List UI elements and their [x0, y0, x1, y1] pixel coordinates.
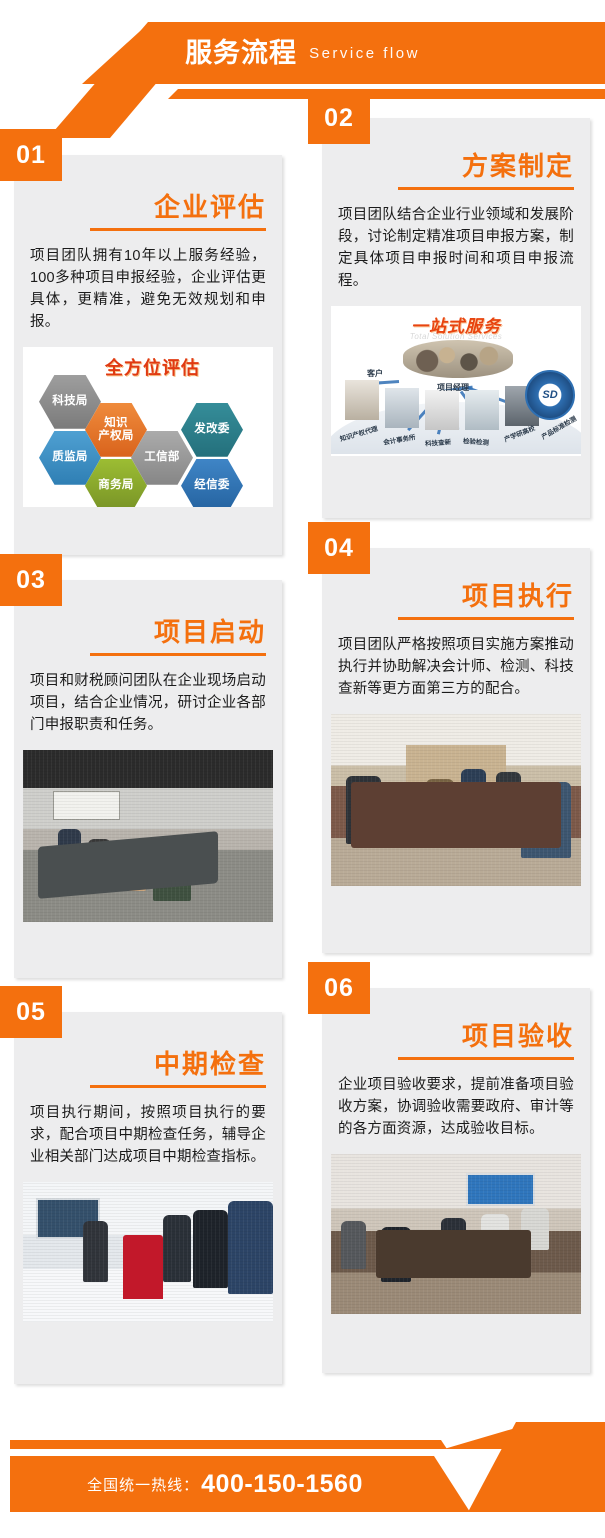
step-body-02: 项目团队结合企业行业领域和发展阶段，讨论制定精准项目申报方案，制定具体项目申报时… [322, 190, 590, 302]
step-body-03: 项目和财税顾问团队在企业现场启动项目，结合企业情况，研讨企业各部门申报职责和任务… [14, 656, 282, 746]
media-one-stop-diagram-02: 一站式服务 Total Solution Services 客户 项目经理 [331, 306, 581, 456]
step-body-05: 项目执行期间，按照项目执行的要求，配合项目中期检查任务，辅导企业相关部门达成项目… [14, 1088, 282, 1178]
page-title: 服务流程 [185, 40, 297, 67]
media-photo-05 [23, 1182, 273, 1322]
step-title-06: 项目验收 [322, 1022, 590, 1051]
step-title-04: 项目执行 [322, 582, 590, 611]
one-stop-node-ip [345, 380, 379, 420]
one-stop-node-inspection [465, 390, 499, 430]
step-card-01[interactable]: 01 企业评估 项目团队拥有10年以上服务经验，100多种项目申报经验，企业评估… [14, 155, 282, 555]
page-header: 服务流程 Service flow [0, 0, 605, 118]
one-stop-subcaption: Total Solution Services [331, 332, 581, 341]
one-stop-label-novelty: 科技查新 [425, 436, 452, 448]
step-title-03: 项目启动 [14, 618, 282, 647]
one-stop-certification-seal: SD [525, 370, 575, 420]
photo-working-desk [331, 714, 581, 886]
header-title-group: 服务流程 Service flow [0, 22, 605, 84]
step-number-badge-02: 02 [308, 92, 370, 144]
hexagon-diagram-caption: 全方位评估 [105, 354, 200, 380]
step-number-badge-05: 05 [0, 986, 62, 1038]
service-flow-poster: 服务流程 Service flow 01 企业评估 项目团队拥有10年以上服务经… [0, 0, 605, 1538]
hotline-label: 全国统一热线： [87, 1474, 199, 1495]
step-card-06[interactable]: 06 项目验收 企业项目验收要求，提前准备项目验收方案，协调验收需要政府、审计等… [322, 988, 590, 1373]
step-number-badge-01: 01 [0, 129, 62, 181]
one-stop-team-photo [403, 340, 513, 378]
photo-showroom-visit [23, 1182, 273, 1322]
step-title-01: 企业评估 [14, 193, 282, 222]
hexagon-jingxin-wei: 经信委 [181, 459, 243, 507]
step-title-02: 方案制定 [322, 152, 590, 181]
step-number-badge-04: 04 [308, 522, 370, 574]
one-stop-role-manager: 项目经理 [437, 382, 469, 393]
step-card-05[interactable]: 05 中期检查 项目执行期间，按照项目执行的要求，配合项目中期检查任务，辅导企业… [14, 1012, 282, 1384]
media-photo-06 [331, 1154, 581, 1314]
step-title-05: 中期检查 [14, 1050, 282, 1079]
step-card-02[interactable]: 02 方案制定 项目团队结合企业行业领域和发展阶段，讨论制定精准项目申报方案，制… [322, 118, 590, 518]
step-body-01: 项目团队拥有10年以上服务经验，100多种项目申报经验，企业评估更具体，更精准，… [14, 231, 282, 343]
media-photo-03 [23, 750, 273, 922]
one-stop-label-inspection: 检验检测 [463, 435, 490, 447]
one-stop-node-novelty [425, 390, 459, 430]
step-number-badge-03: 03 [0, 554, 62, 606]
step-card-03[interactable]: 03 项目启动 项目和财税顾问团队在企业现场启动项目，结合企业情况，研讨企业各部… [14, 580, 282, 978]
photo-boardroom-meeting [331, 1154, 581, 1314]
step-body-06: 企业项目验收要求，提前准备项目验收方案，协调验收需要政府、审计等的各方面资源，达… [322, 1060, 590, 1150]
page-subtitle: Service flow [309, 46, 420, 61]
media-hexagon-diagram-01: 全方位评估 科技局 知识产权局 质监局 商务局 工信部 发改委 经信委 [23, 347, 273, 507]
one-stop-node-accounting [385, 388, 419, 428]
hexagon-fagai-wei: 发改委 [181, 403, 243, 457]
hotline-number[interactable]: 400-150-1560 [201, 1470, 363, 1499]
media-photo-04 [331, 714, 581, 886]
one-stop-role-customer: 客户 [367, 368, 383, 379]
footer-hotline-group: 全国统一热线： 400-150-1560 [10, 1456, 440, 1512]
step-number-badge-06: 06 [308, 962, 370, 1014]
photo-conference-room [23, 750, 273, 922]
step-card-04[interactable]: 04 项目执行 项目团队严格按照项目实施方案推动执行并协助解决会计师、检测、科技… [322, 548, 590, 953]
step-body-04: 项目团队严格按照项目实施方案推动执行并协助解决会计师、检测、科技查新等更方面第三… [322, 620, 590, 710]
page-footer: 全国统一热线： 400-150-1560 [0, 1400, 605, 1538]
